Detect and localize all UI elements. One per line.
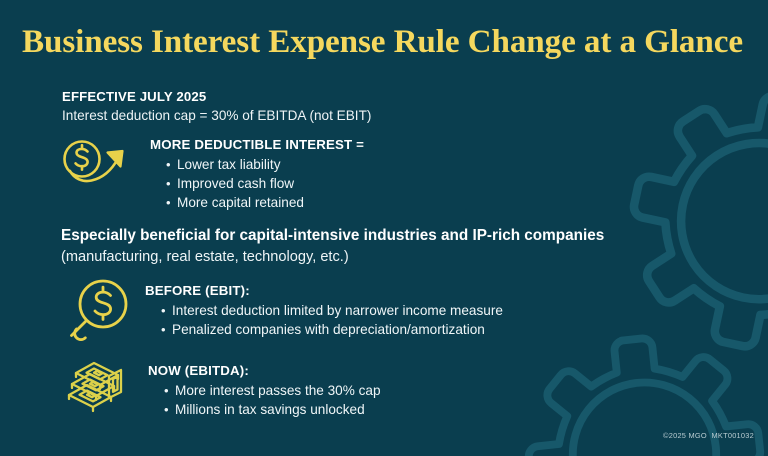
dollar-coin-up-arrow-icon bbox=[60, 131, 138, 198]
section-heading: NOW (EBITDA): bbox=[148, 362, 381, 380]
page-title: Business Interest Expense Rule Change at… bbox=[22, 23, 768, 61]
section-heading: BEFORE (EBIT): bbox=[145, 282, 503, 300]
effective-date-heading: EFFECTIVE JULY 2025 bbox=[62, 88, 371, 105]
list-item: Millions in tax savings unlocked bbox=[164, 400, 381, 419]
section-before-ebit: BEFORE (EBIT): Interest deduction limite… bbox=[64, 277, 503, 350]
list-item: More capital retained bbox=[166, 193, 364, 212]
section-more-deductible-interest: MORE DEDUCTIBLE INTEREST = Lower tax lia… bbox=[60, 131, 364, 212]
list-item: Lower tax liability bbox=[166, 155, 364, 174]
emphasis-headline: Especially beneficial for capital-intens… bbox=[61, 226, 604, 246]
list-item: Penalized companies with depreciation/am… bbox=[161, 320, 503, 339]
cash-stack-icon bbox=[60, 359, 132, 424]
list-item: Interest deduction limited by narrower i… bbox=[161, 301, 503, 320]
emphasis-block: Especially beneficial for capital-intens… bbox=[61, 226, 604, 267]
emphasis-subline: (manufacturing, real estate, technology,… bbox=[61, 247, 604, 267]
section-content: BEFORE (EBIT): Interest deduction limite… bbox=[132, 277, 503, 339]
section-bullet-list: More interest passes the 30% cap Million… bbox=[148, 381, 381, 419]
magnifying-glass-dollar-icon bbox=[64, 277, 132, 350]
section-bullet-list: Interest deduction limited by narrower i… bbox=[145, 301, 503, 339]
copyright-notice: ©2025 MGO MKT001032 bbox=[663, 431, 754, 440]
infographic-canvas: Business Interest Expense Rule Change at… bbox=[0, 0, 768, 456]
section-bullet-list: Lower tax liability Improved cash flow M… bbox=[150, 155, 364, 212]
section-heading: MORE DEDUCTIBLE INTEREST = bbox=[150, 136, 364, 154]
section-now-ebitda: NOW (EBITDA): More interest passes the 3… bbox=[60, 359, 381, 424]
deduction-cap-subheading: Interest deduction cap = 30% of EBITDA (… bbox=[62, 106, 371, 125]
section-content: NOW (EBITDA): More interest passes the 3… bbox=[132, 359, 381, 419]
section-content: MORE DEDUCTIBLE INTEREST = Lower tax lia… bbox=[138, 131, 364, 212]
list-item: Improved cash flow bbox=[166, 174, 364, 193]
list-item: More interest passes the 30% cap bbox=[164, 381, 381, 400]
effective-date-block: EFFECTIVE JULY 2025 Interest deduction c… bbox=[62, 88, 371, 125]
